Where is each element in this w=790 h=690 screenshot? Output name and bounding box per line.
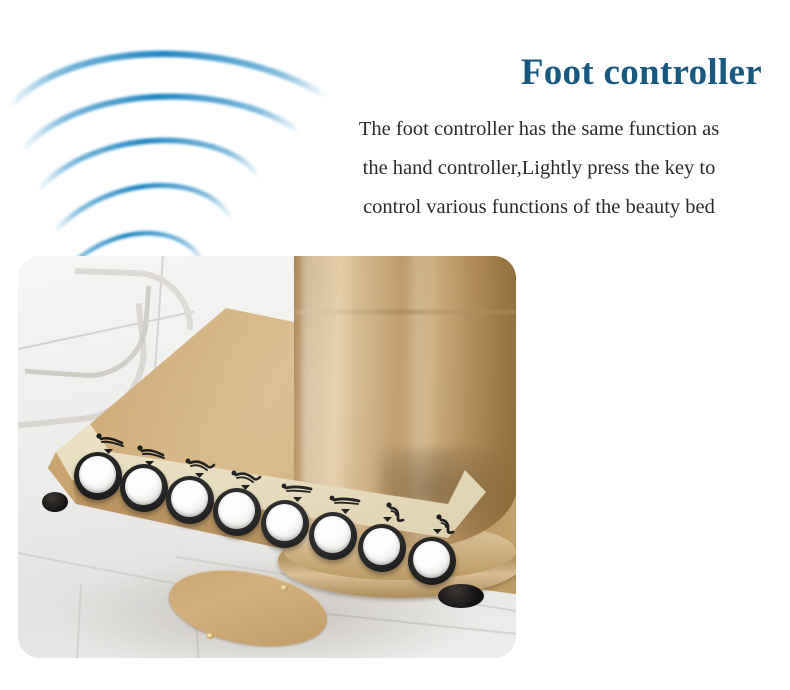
- page-root: Foot controller The foot controller has …: [0, 0, 790, 690]
- foot-pedal-button[interactable]: [166, 476, 214, 524]
- recline-back-down-icon: [135, 442, 169, 466]
- header-text-block: Foot controller The foot controller has …: [300, 52, 778, 227]
- bed-flat-icon: [280, 478, 314, 502]
- description-line-2: the hand controller,Lightly press the ke…: [300, 149, 778, 188]
- rubber-foot: [438, 584, 484, 608]
- foot-pedal-button[interactable]: [120, 464, 168, 512]
- foot-pedal-button[interactable]: [309, 512, 357, 560]
- foot-pedal-button[interactable]: [358, 524, 406, 572]
- signal-wave-arcs-icon: [0, 20, 340, 290]
- foot-pedal-button[interactable]: [213, 488, 261, 536]
- description-line-3: control various functions of the beauty …: [300, 188, 778, 227]
- seated-chair-icon: [382, 500, 416, 524]
- recline-leg-down-icon: [230, 466, 264, 490]
- foot-pedal-button[interactable]: [261, 500, 309, 548]
- recline-back-down-icon: [94, 430, 128, 454]
- recline-leg-down-icon: [184, 454, 218, 478]
- description-line-1: The foot controller has the same functio…: [300, 110, 778, 149]
- rubber-foot: [42, 492, 68, 512]
- page-description: The foot controller has the same functio…: [300, 110, 778, 227]
- foot-pedal-button[interactable]: [74, 452, 122, 500]
- bed-flat-icon: [328, 490, 362, 514]
- foot-controller-product-photo: [18, 256, 516, 658]
- foot-pedal-button[interactable]: [408, 537, 456, 585]
- page-title: Foot controller: [300, 52, 778, 94]
- seated-chair-icon: [432, 512, 466, 536]
